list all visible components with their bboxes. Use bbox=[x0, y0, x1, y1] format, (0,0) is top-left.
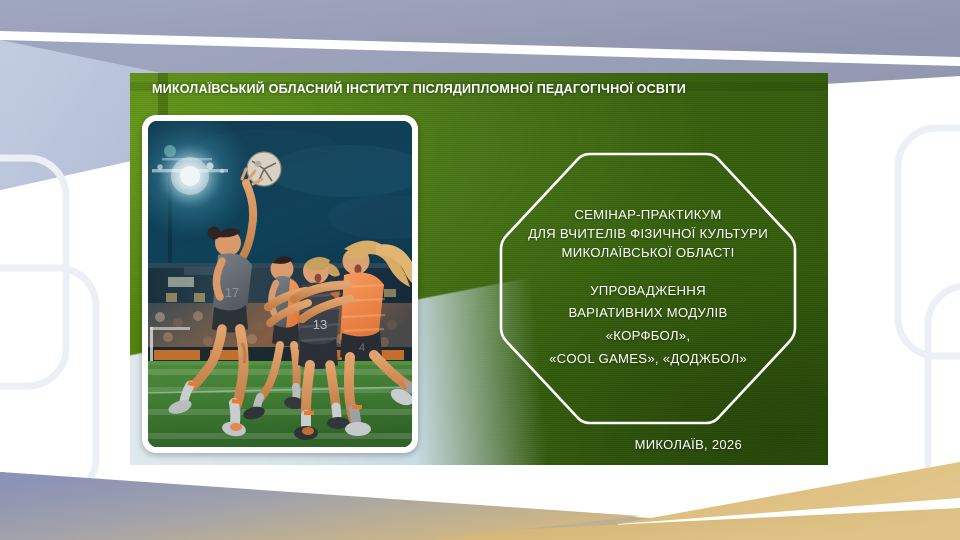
presentation-slide: МИКОЛАЇВСЬКИЙ ОБЛАСНИЙ ІНСТИТУТ ПІСЛЯДИП… bbox=[0, 0, 960, 540]
photo-card: 17 bbox=[142, 115, 418, 453]
institution-title: МИКОЛАЇВСЬКИЙ ОБЛАСНИЙ ІНСТИТУТ ПІСЛЯДИП… bbox=[152, 82, 812, 96]
octagon-text-frame: СЕМІНАР-ПРАКТИКУМ ДЛЯ ВЧИТЕЛІВ ФІЗИЧНОЇ … bbox=[498, 151, 798, 426]
octagon-line: МИКОЛАЇВСЬКОЇ ОБЛАСТІ bbox=[498, 244, 798, 263]
slide-content-panel: МИКОЛАЇВСЬКИЙ ОБЛАСНИЙ ІНСТИТУТ ПІСЛЯДИП… bbox=[130, 73, 828, 465]
octagon-line: «КОРФБОЛ», bbox=[498, 325, 798, 348]
octagon-line: СЕМІНАР-ПРАКТИКУМ bbox=[498, 206, 798, 225]
octagon-line: «COOL GAMES», «ДОДЖБОЛ» bbox=[498, 348, 798, 371]
location-year-footer: МИКОЛАЇВ, 2026 bbox=[635, 437, 742, 452]
sports-photo: 17 bbox=[148, 121, 412, 447]
octagon-line: УПРОВАДЖЕННЯ bbox=[498, 280, 798, 303]
octagon-block-one: СЕМІНАР-ПРАКТИКУМ ДЛЯ ВЧИТЕЛІВ ФІЗИЧНОЇ … bbox=[498, 206, 798, 262]
octagon-block-two: УПРОВАДЖЕННЯ ВАРІАТИВНИХ МОДУЛІВ «КОРФБО… bbox=[498, 280, 798, 371]
octagon-line: ВАРІАТИВНИХ МОДУЛІВ bbox=[498, 302, 798, 325]
octagon-line: ДЛЯ ВЧИТЕЛІВ ФІЗИЧНОЇ КУЛЬТУРИ bbox=[498, 225, 798, 244]
